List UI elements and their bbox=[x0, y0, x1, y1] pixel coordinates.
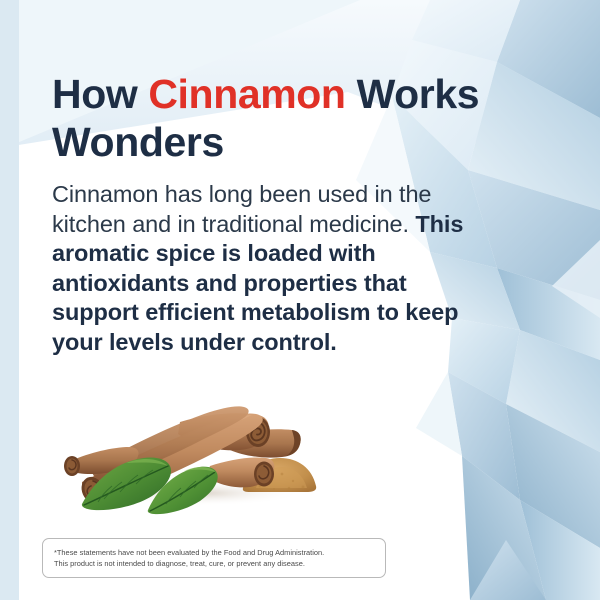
disclaimer-line-2: This product is not intended to diagnose… bbox=[54, 558, 374, 569]
headline-accent-word: Cinnamon bbox=[148, 71, 345, 117]
fda-disclaimer-box: *These statements have not been evaluate… bbox=[42, 538, 386, 578]
page-title: How Cinnamon Works Wonders bbox=[52, 70, 482, 166]
cinnamon-product-image bbox=[60, 370, 326, 515]
headline-part-one: How bbox=[52, 71, 148, 117]
poster-canvas: How Cinnamon Works Wonders Cinnamon has … bbox=[0, 0, 600, 600]
disclaimer-line-1: *These statements have not been evaluate… bbox=[54, 547, 374, 558]
body-intro-text: Cinnamon has long been used in the kitch… bbox=[52, 181, 431, 237]
body-copy: Cinnamon has long been used in the kitch… bbox=[52, 180, 492, 357]
